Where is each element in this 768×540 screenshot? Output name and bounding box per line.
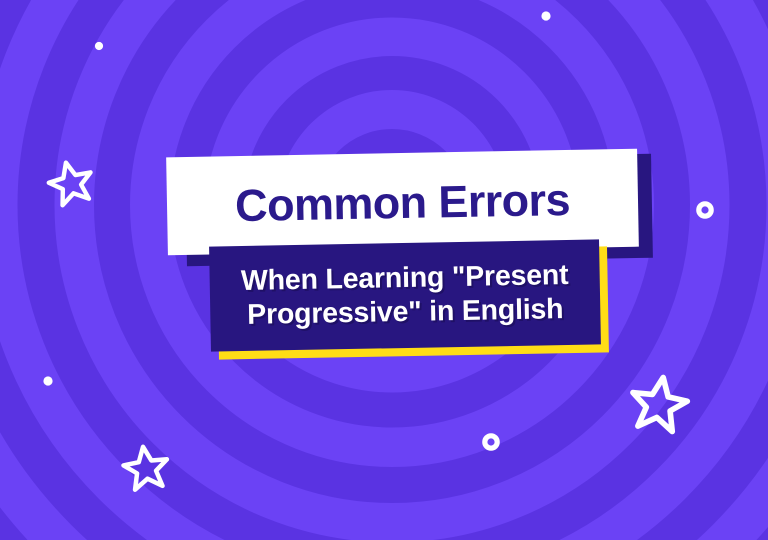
subtitle-card: When Learning "Present Progressive" in E…	[209, 239, 601, 351]
page-title: Common Errors	[235, 176, 571, 227]
headline-banner: Common Errors When Learning "Present Pro…	[0, 0, 768, 540]
poster-canvas: Common Errors When Learning "Present Pro…	[0, 0, 768, 540]
page-subtitle: When Learning "Present Progressive" in E…	[231, 259, 580, 331]
